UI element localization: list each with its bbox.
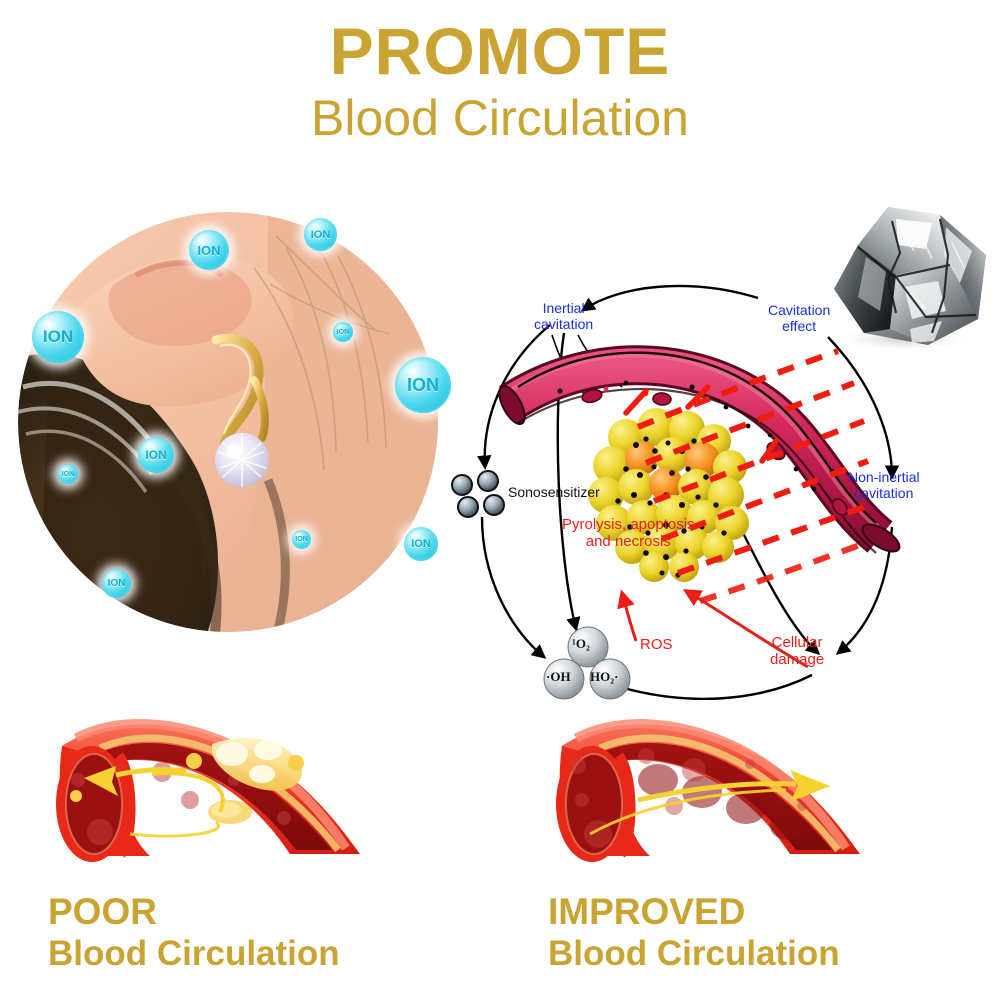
label-pyrolysis-apoptosis-necrosis: Pyrolysis, apoptosis and necrosis [562, 517, 695, 551]
ion-bubble: ION [58, 464, 78, 484]
page-title: PROMOTE [0, 18, 1000, 84]
ion-bubble: ION [32, 311, 84, 363]
caption-improved-circulation: IMPROVED Blood Circulation [548, 893, 840, 973]
ion-bubble: ION [292, 530, 311, 549]
caption-poor-title: POOR [48, 893, 340, 932]
ion-bubble: ION [102, 569, 131, 598]
ion-bubble: ION [138, 437, 174, 473]
label-ros: ROS [640, 637, 673, 654]
ion-bubble: ION [189, 230, 229, 270]
label-cellular-damage: Cellular damage [770, 635, 824, 669]
label-non-inertial-cavitation: Non-inertial cavitation [848, 470, 920, 501]
caption-improved-subtitle: Blood Circulation [548, 934, 840, 973]
caption-poor-subtitle: Blood Circulation [48, 934, 340, 973]
caption-poor-circulation: POOR Blood Circulation [48, 893, 340, 973]
header: PROMOTE Blood Circulation [0, 18, 1000, 148]
molecule-hydroperoxyl-radical: HO₂· [590, 670, 618, 685]
ion-bubble: ION [333, 322, 353, 342]
ion-bubble: ION [404, 527, 438, 561]
germanium-mineral-stone [800, 193, 998, 355]
poster-root: PROMOTE Blood Circulation [0, 0, 1000, 1000]
molecule-singlet-oxygen: ¹O₂ [572, 637, 590, 652]
ion-bubble: ION [304, 218, 337, 251]
caption-improved-title: IMPROVED [548, 893, 840, 932]
ear-photo-panel: IONIONIONIONIONIONIONIONIONION [18, 212, 438, 632]
poor-circulation-vessel [34, 708, 454, 868]
ear-with-earring-photo [18, 212, 438, 632]
improved-circulation-vessel [534, 708, 954, 868]
page-subtitle: Blood Circulation [0, 90, 1000, 148]
label-sonosensitizer: Sonosensitizer [508, 485, 600, 501]
label-inertial-cavitation: Inertial cavitation [534, 301, 593, 332]
molecule-hydroxyl-radical: ·OH [546, 670, 571, 685]
